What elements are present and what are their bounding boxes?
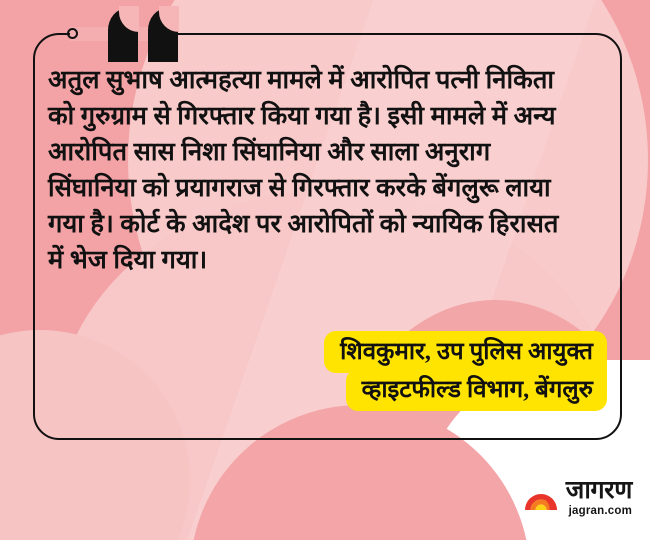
quote-line: को गुरुग्राम से गिरफ्तार किया गया है। इस… <box>48 98 608 134</box>
quote-card: अतुल सुभाष आत्महत्या मामले में आरोपित पत… <box>0 0 650 540</box>
logo-domain: jagran.com <box>569 504 632 518</box>
quote-text: अतुल सुभाष आत्महत्या मामले में आरोपित पत… <box>48 62 608 278</box>
quote-line: सिंघानिया को प्रयागराज से गिरफ्तार करके … <box>48 170 608 206</box>
quote-line: आरोपित सास निशा सिंघानिया और साला अनुराग <box>48 134 608 170</box>
frame-endpoint-ring-left <box>67 28 78 39</box>
quote-line: गया है। कोर्ट के आदेश पर आरोपितों को न्य… <box>48 206 608 242</box>
attribution-name-designation: शिवकुमार, उप पुलिस आयुक्त <box>324 331 607 373</box>
attribution-block: शिवकुमार, उप पुलिस आयुक्त व्हाइटफील्ड वि… <box>324 331 607 411</box>
attribution-department: व्हाइटफील्ड विभाग, बेंगलुरु <box>346 369 607 411</box>
logo-text-block: जागरण jagran.com <box>566 479 632 518</box>
jagran-logo[interactable]: जागरण jagran.com <box>524 479 632 518</box>
quote-line: में भेज दिया गया। <box>48 242 608 278</box>
logo-name: जागरण <box>566 479 632 503</box>
quotation-mark-icon <box>108 8 184 70</box>
quotation-mark-glyph-left <box>108 8 138 62</box>
sun-icon <box>524 487 558 511</box>
quote-line: अतुल सुभाष आत्महत्या मामले में आरोपित पत… <box>48 62 608 98</box>
quotation-mark-glyph-right <box>148 8 178 62</box>
